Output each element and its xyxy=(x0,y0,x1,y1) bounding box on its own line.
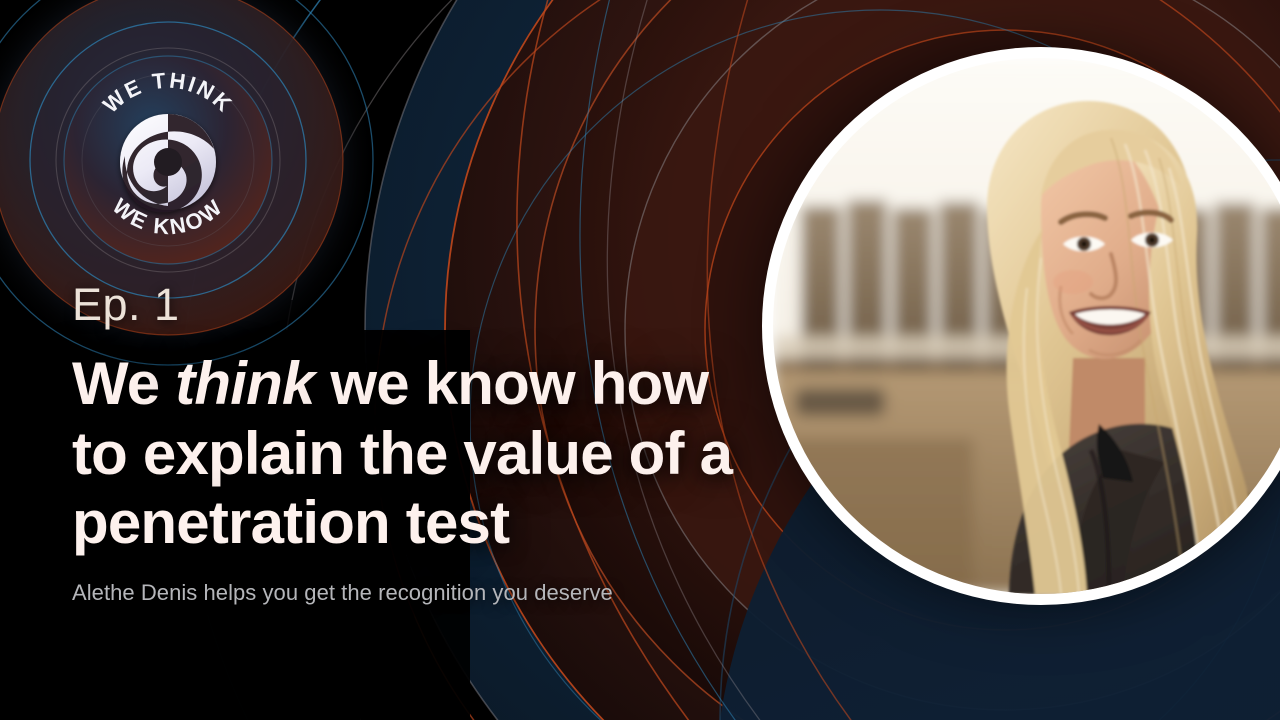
episode-headline: We think we know how to explain the valu… xyxy=(72,349,792,558)
episode-number-label: Ep. 1 xyxy=(72,282,792,327)
guest-portrait-photo xyxy=(773,58,1280,594)
episode-subtitle: Alethe Denis helps you get the recogniti… xyxy=(72,580,792,606)
episode-text-block: Ep. 1 We think we know how to explain th… xyxy=(72,282,792,606)
headline-emphasis: think xyxy=(175,350,314,417)
podcast-logo-badge: WE THINK WE KNOW xyxy=(48,40,288,280)
episode-cover-card: WE THINK WE KNOW Ep. 1 We think we know … xyxy=(0,0,1280,720)
headline-part-1: We xyxy=(72,350,175,417)
guest-portrait-clip xyxy=(773,58,1280,594)
